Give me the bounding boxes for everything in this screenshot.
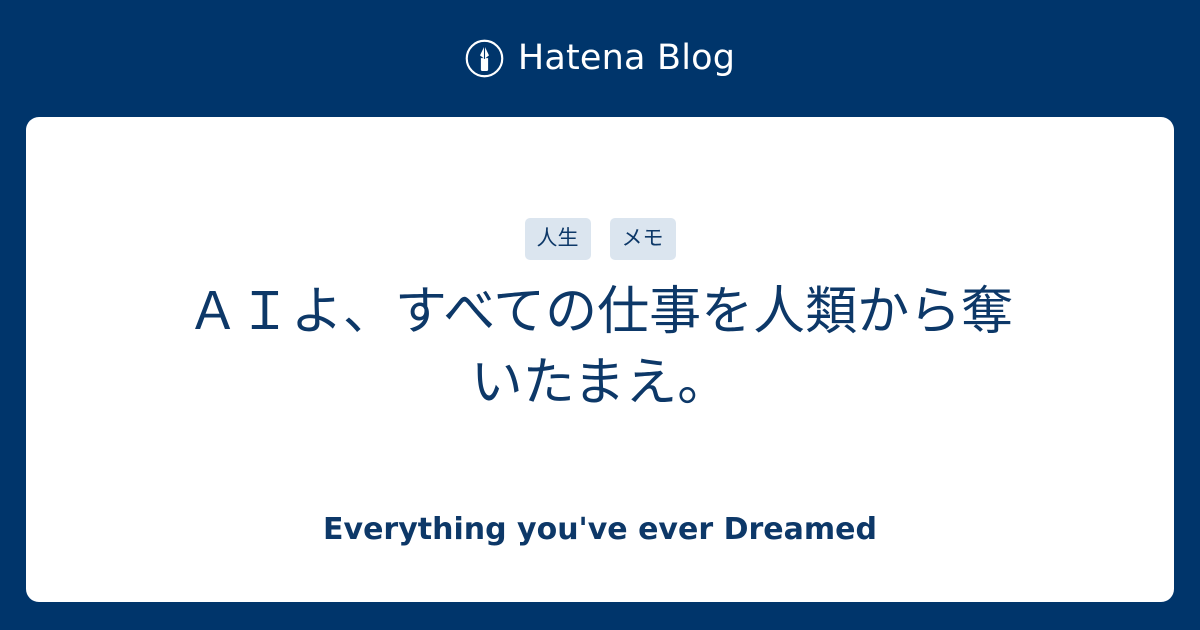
- blog-name: Everything you've ever Dreamed: [26, 512, 1174, 548]
- tag-chip-memo[interactable]: メモ: [610, 218, 676, 260]
- site-header: Hatena Blog: [0, 0, 1200, 117]
- hatena-pen-nib-icon: [465, 39, 504, 78]
- tag-list: 人生 メモ: [26, 218, 1174, 260]
- brand-name: Hatena Blog: [518, 41, 735, 76]
- og-image-canvas: Hatena Blog 人生 メモ ＡＩよ、すべての仕事を人類から奪いたまえ。 …: [0, 0, 1200, 630]
- tag-chip-jinsei[interactable]: 人生: [525, 218, 591, 260]
- entry-card: 人生 メモ ＡＩよ、すべての仕事を人類から奪いたまえ。 Everything y…: [26, 117, 1174, 602]
- entry-title: ＡＩよ、すべての仕事を人類から奪いたまえ。: [170, 277, 1030, 418]
